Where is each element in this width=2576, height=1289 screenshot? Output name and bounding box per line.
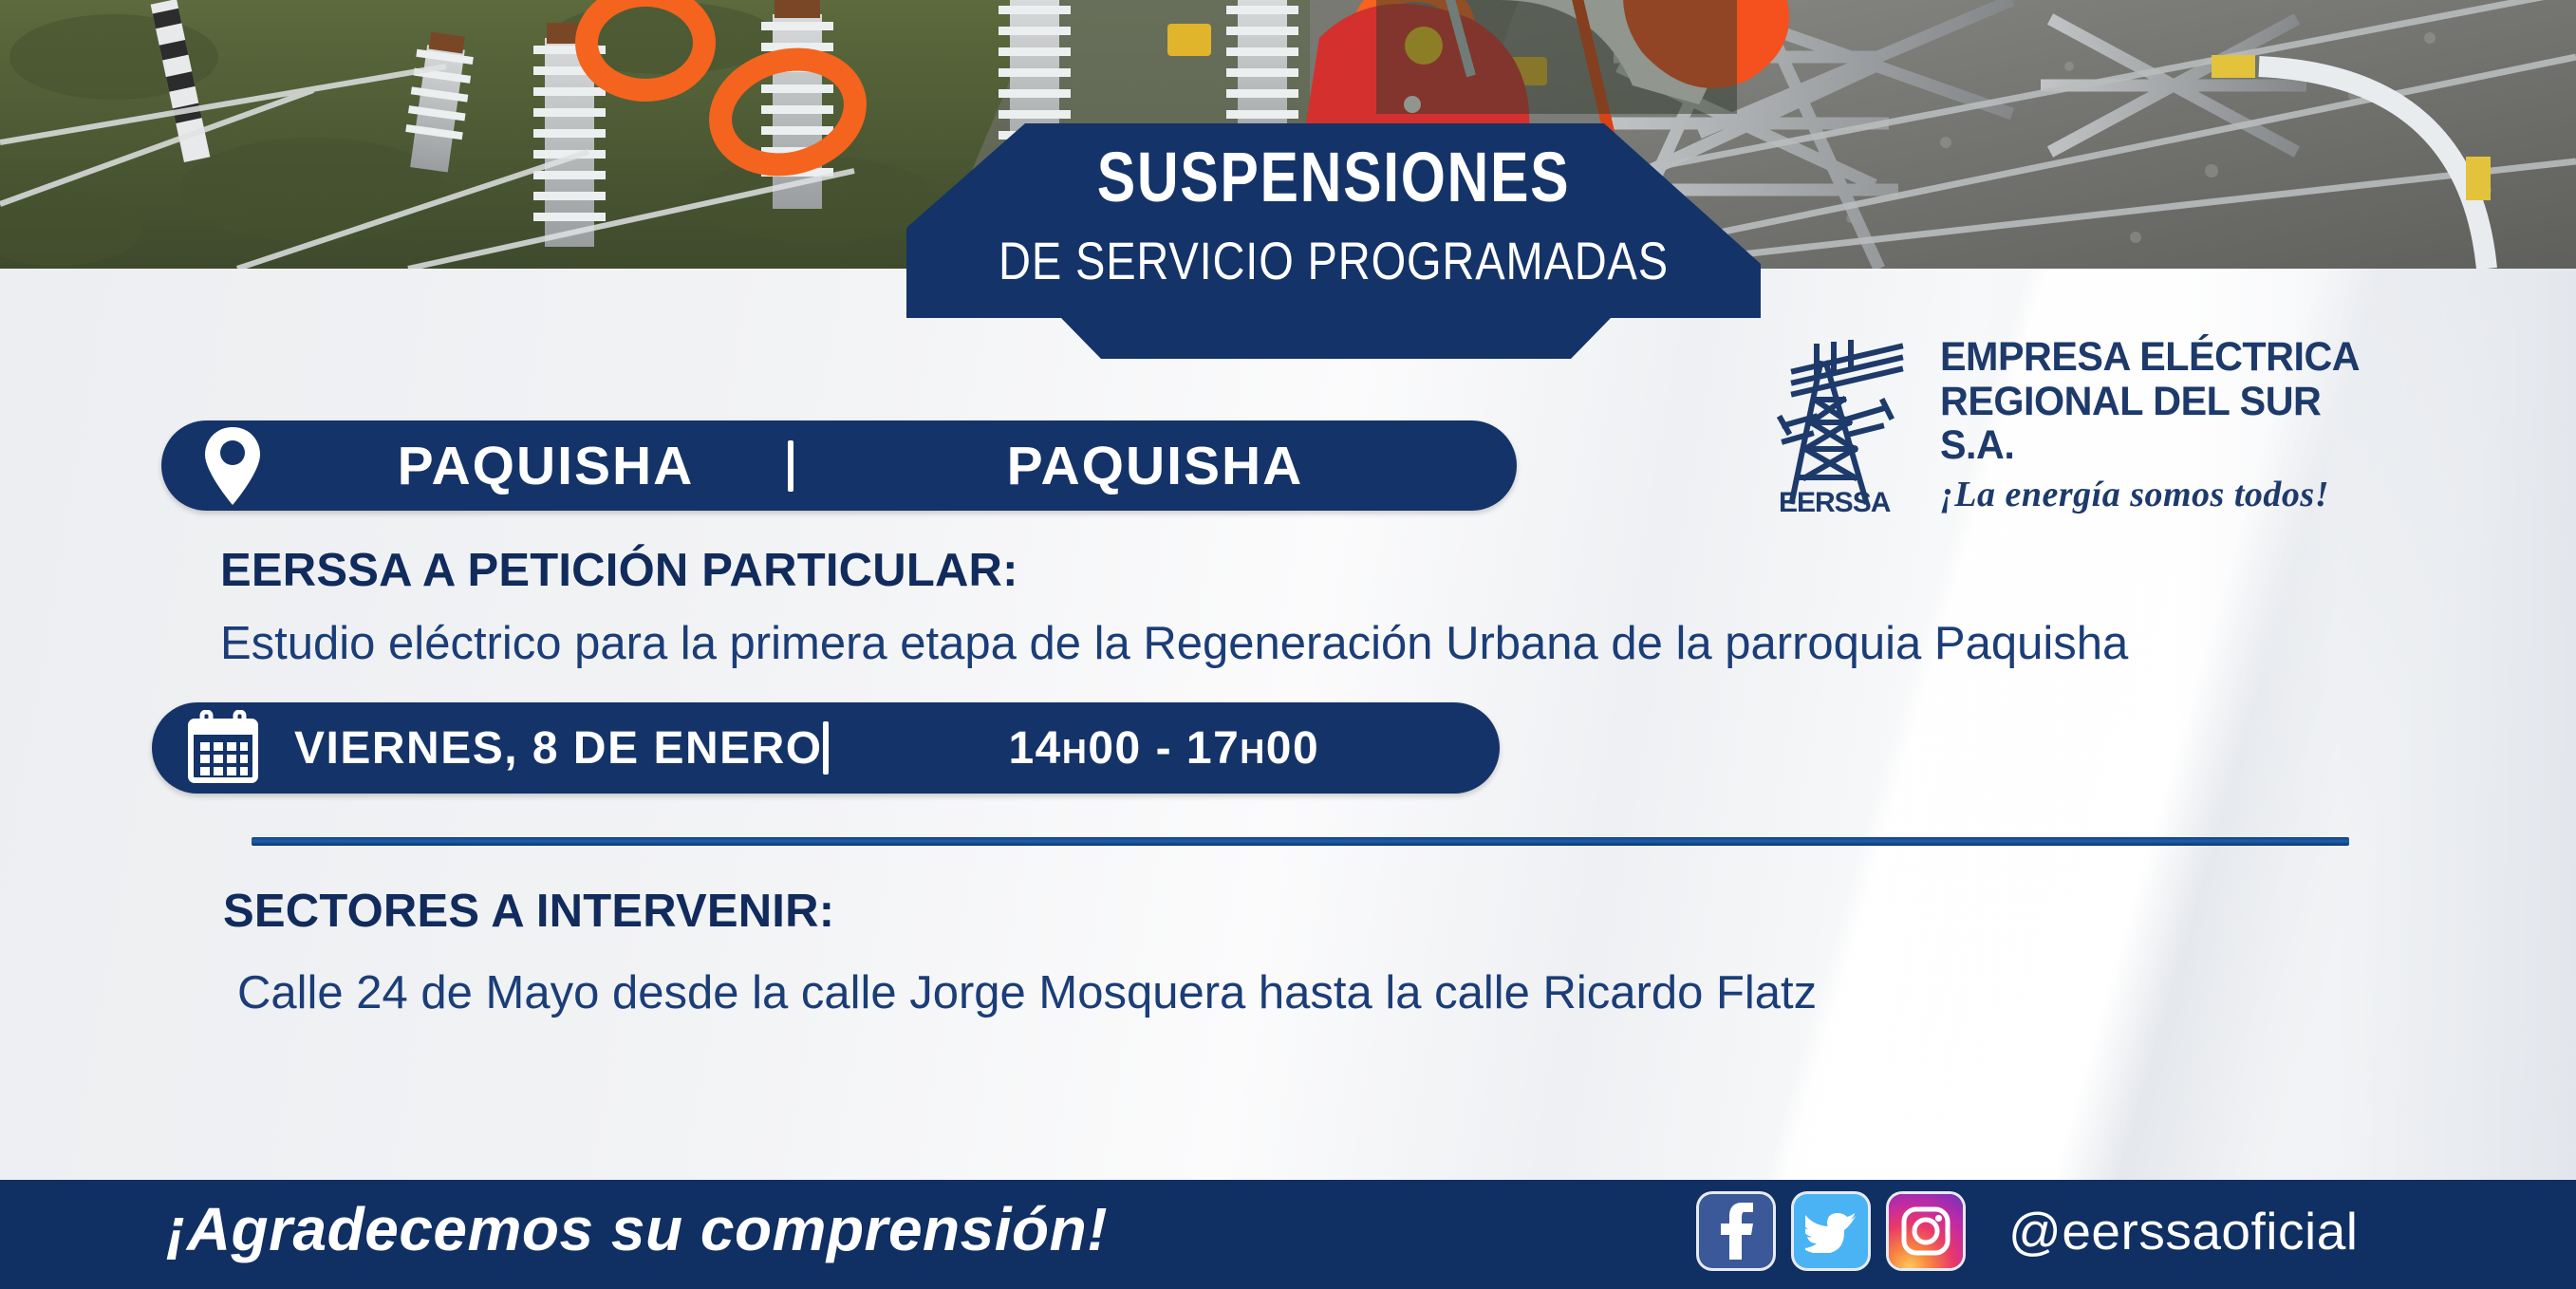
schedule-time-cell: 14H00 - 17H00 [829, 722, 1500, 775]
location-bar: PAQUISHA PAQUISHA [161, 420, 1517, 511]
location-parish: PAQUISHA [1007, 436, 1304, 496]
section-divider [252, 837, 2349, 846]
sectors-heading: SECTORES A INTERVENIR: [223, 885, 834, 938]
logo-wordmark: EMPRESA ELÉCTRICA REGIONAL DEL SUR S.A. … [1940, 335, 2413, 514]
time-start: 14 [1008, 723, 1061, 774]
instagram-icon[interactable] [1889, 1194, 1963, 1268]
transmission-tower-icon: EERSSA [1767, 335, 1919, 515]
location-canton: PAQUISHA [398, 436, 695, 496]
twitter-icon[interactable] [1794, 1194, 1868, 1268]
request-heading: EERSSA A PETICIÓN PARTICULAR: [220, 544, 1018, 597]
location-parish-cell: PAQUISHA [793, 435, 1517, 497]
time-start-unit: H [1062, 732, 1089, 771]
location-canton-cell: PAQUISHA [304, 435, 788, 497]
poster-title: SUSPENSIONES [983, 137, 1684, 217]
time-end: 17 [1186, 723, 1240, 774]
schedule-date-cell: VIERNES, 8 DE ENERO [294, 722, 823, 775]
logo-slogan: ¡La energía somos todos! [1940, 474, 2413, 515]
sectors-detail: Calle 24 de Mayo desde la calle Jorge Mo… [237, 966, 1817, 1019]
calendar-icon [152, 710, 294, 786]
time-end-unit: H [1240, 732, 1266, 771]
social-links: @eerssaoficial [1699, 1194, 2359, 1268]
eerssa-logo: EERSSA EMPRESA ELÉCTRICA REGIONAL DEL SU… [1767, 330, 2413, 520]
logo-name-line1: EMPRESA ELÉCTRICA [1940, 335, 2394, 379]
time-end-min: 00 [1266, 723, 1319, 774]
service-suspension-poster: SUSPENSIONES DE SERVICIO PROGRAMADAS EER… [0, 0, 2576, 1289]
time-separator: - [1156, 723, 1172, 774]
poster-subtitle: DE SERVICIO PROGRAMADAS [975, 230, 1692, 291]
poster-title-badge: SUSPENSIONES DE SERVICIO PROGRAMADAS [906, 123, 1761, 359]
svg-text:EERSSA: EERSSA [1779, 487, 1891, 515]
request-detail: Estudio eléctrico para la primera etapa … [220, 617, 2128, 670]
schedule-time: 14H00 - 17H00 [1008, 723, 1319, 774]
schedule-date: VIERNES, 8 DE ENERO [294, 723, 823, 774]
footer-thanks-text: ¡Agradecemos su comprensión! [166, 1194, 1108, 1264]
social-handle[interactable]: @eerssaoficial [2008, 1201, 2359, 1261]
logo-name-line2: REGIONAL DEL SUR S.A. [1940, 380, 2394, 468]
schedule-bar: VIERNES, 8 DE ENERO 14H00 - 17H00 [152, 702, 1500, 794]
time-start-min: 00 [1088, 723, 1141, 774]
facebook-icon[interactable] [1699, 1194, 1773, 1268]
map-pin-icon [161, 425, 304, 507]
